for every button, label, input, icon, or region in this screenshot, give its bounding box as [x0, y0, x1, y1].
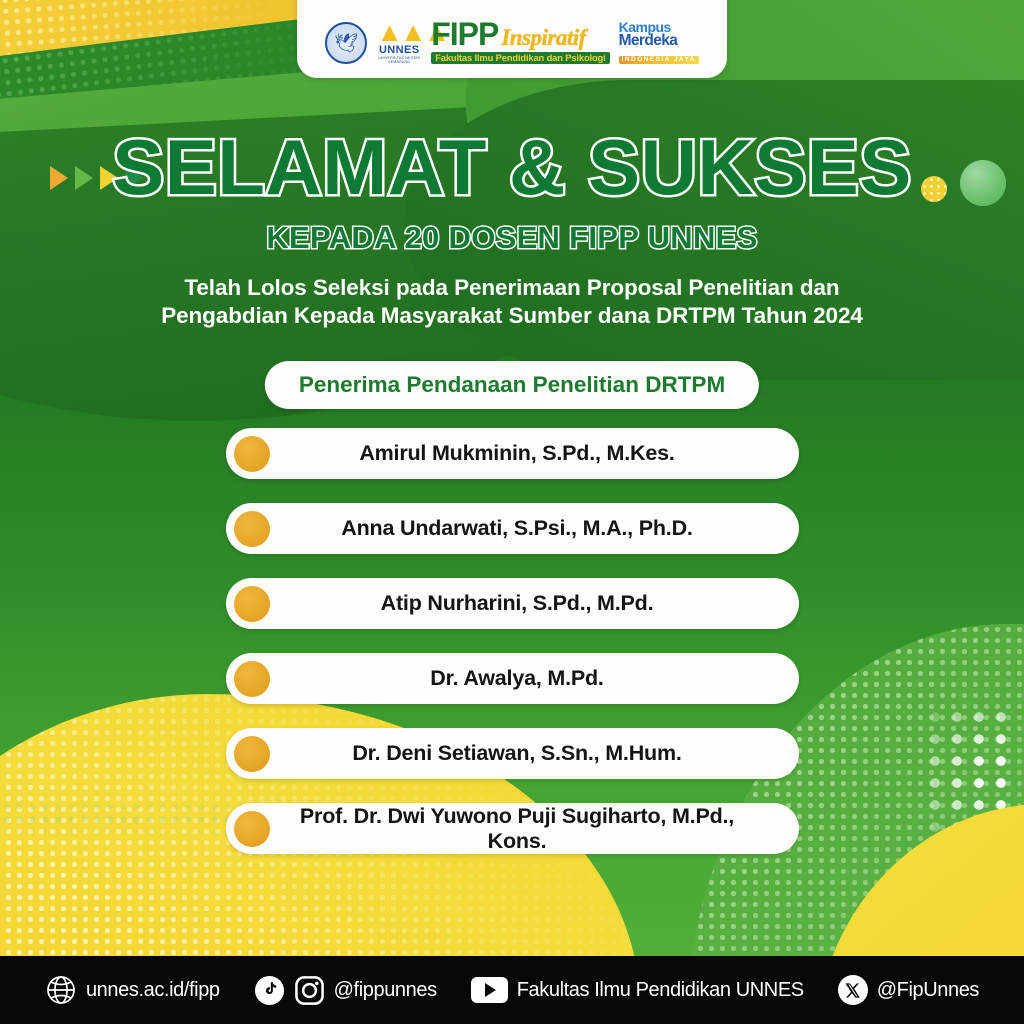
- list-item[interactable]: Atip Nurharini, S.Pd., M.Pd.: [226, 578, 799, 629]
- footer-website[interactable]: unnes.ac.id/fipp: [45, 974, 220, 1006]
- list-item[interactable]: Anna Undarwati, S.Psi., M.A., Ph.D.: [226, 503, 799, 554]
- unnes-logo-sublabel: UNIVERSITAS NEGERI SEMARANG: [376, 56, 422, 64]
- bullet-icon: [234, 436, 270, 472]
- list-item[interactable]: Amirul Mukminin, S.Pd., M.Kes.: [226, 428, 799, 479]
- kampus-merdeka-logo: Kampus Merdeka INDONESIA JAYA: [619, 21, 699, 64]
- recipient-name: Dr. Deni Setiawan, S.Sn., M.Hum.: [270, 741, 799, 766]
- recipient-list: Amirul Mukminin, S.Pd., M.Kes. Anna Unda…: [0, 428, 1024, 878]
- page-description: Telah Lolos Seleksi pada Penerimaan Prop…: [0, 274, 1024, 332]
- description-line-1: Telah Lolos Seleksi pada Penerimaan Prop…: [0, 274, 1024, 303]
- fipp-wordmark: FIPP: [431, 18, 498, 50]
- footer-twitter[interactable]: @FipUnnes: [838, 975, 979, 1005]
- unnes-logo-label: UNNES: [376, 44, 422, 56]
- kampus-merdeka-line2: Merdeka: [619, 34, 699, 49]
- description-line-2: Pengabdian Kepada Masyarakat Sumber dana…: [0, 302, 1024, 331]
- tiktok-icon: [254, 975, 285, 1006]
- bullet-icon: [234, 511, 270, 547]
- headline-block: SELAMAT & SUKSES KEPADA 20 DOSEN FIPP UN…: [0, 128, 1024, 331]
- footer-twitter-label: @FipUnnes: [877, 979, 979, 1002]
- twitter-x-icon: [838, 975, 868, 1005]
- unnes-logo: ▲▲▲ UNNES UNIVERSITAS NEGERI SEMARANG: [376, 19, 422, 64]
- kampus-merdeka-line3: INDONESIA JAYA: [619, 56, 699, 64]
- unnes-flame-icon: ▲▲▲: [376, 19, 422, 46]
- bullet-icon: [234, 736, 270, 772]
- list-item[interactable]: Dr. Deni Setiawan, S.Sn., M.Hum.: [226, 728, 799, 779]
- instagram-icon: [294, 975, 325, 1006]
- youtube-icon: [471, 977, 508, 1003]
- globe-icon: [45, 974, 77, 1006]
- footer-youtube[interactable]: Fakultas Ilmu Pendidikan UNNES: [471, 977, 804, 1003]
- list-item[interactable]: Dr. Awalya, M.Pd.: [226, 653, 799, 704]
- page-title: SELAMAT & SUKSES: [0, 128, 1024, 208]
- recipient-name: Atip Nurharini, S.Pd., M.Pd.: [270, 591, 799, 616]
- recipient-name: Anna Undarwati, S.Psi., M.A., Ph.D.: [270, 516, 799, 541]
- bullet-icon: [234, 811, 270, 847]
- header-logo-bar: 🕊 ▲▲▲ UNNES UNIVERSITAS NEGERI SEMARANG …: [297, 0, 727, 78]
- recipient-name: Amirul Mukminin, S.Pd., M.Kes.: [270, 441, 799, 466]
- fipp-inspiratif-logo: FIPP Inspiratif Fakultas Ilmu Pendidikan…: [431, 18, 609, 64]
- footer-social-group[interactable]: @fippunnes: [254, 975, 437, 1006]
- recipient-name: Prof. Dr. Dwi Yuwono Puji Sugiharto, M.P…: [270, 804, 799, 854]
- tut-wuri-handayani-logo: 🕊: [325, 22, 367, 64]
- tut-wuri-bird-icon: 🕊: [334, 34, 358, 53]
- bullet-icon: [234, 661, 270, 697]
- footer-youtube-label: Fakultas Ilmu Pendidikan UNNES: [517, 979, 804, 1002]
- fipp-tagline: Fakultas Ilmu Pendidikan dan Psikologi: [431, 52, 609, 64]
- fipp-inspiratif-script: Inspiratif: [501, 26, 585, 49]
- list-item[interactable]: Prof. Dr. Dwi Yuwono Puji Sugiharto, M.P…: [226, 803, 799, 854]
- poster-canvas: 🕊 ▲▲▲ UNNES UNIVERSITAS NEGERI SEMARANG …: [0, 0, 1024, 1024]
- page-subtitle: KEPADA 20 DOSEN FIPP UNNES: [0, 220, 1024, 256]
- footer-instagram-label: @fippunnes: [334, 979, 437, 1002]
- section-title-pill: Penerima Pendanaan Penelitian DRTPM: [265, 361, 759, 409]
- bullet-icon: [234, 586, 270, 622]
- footer-bar: unnes.ac.id/fipp @fippunnes: [0, 956, 1024, 1024]
- recipient-name: Dr. Awalya, M.Pd.: [270, 666, 799, 691]
- footer-website-label: unnes.ac.id/fipp: [86, 979, 220, 1002]
